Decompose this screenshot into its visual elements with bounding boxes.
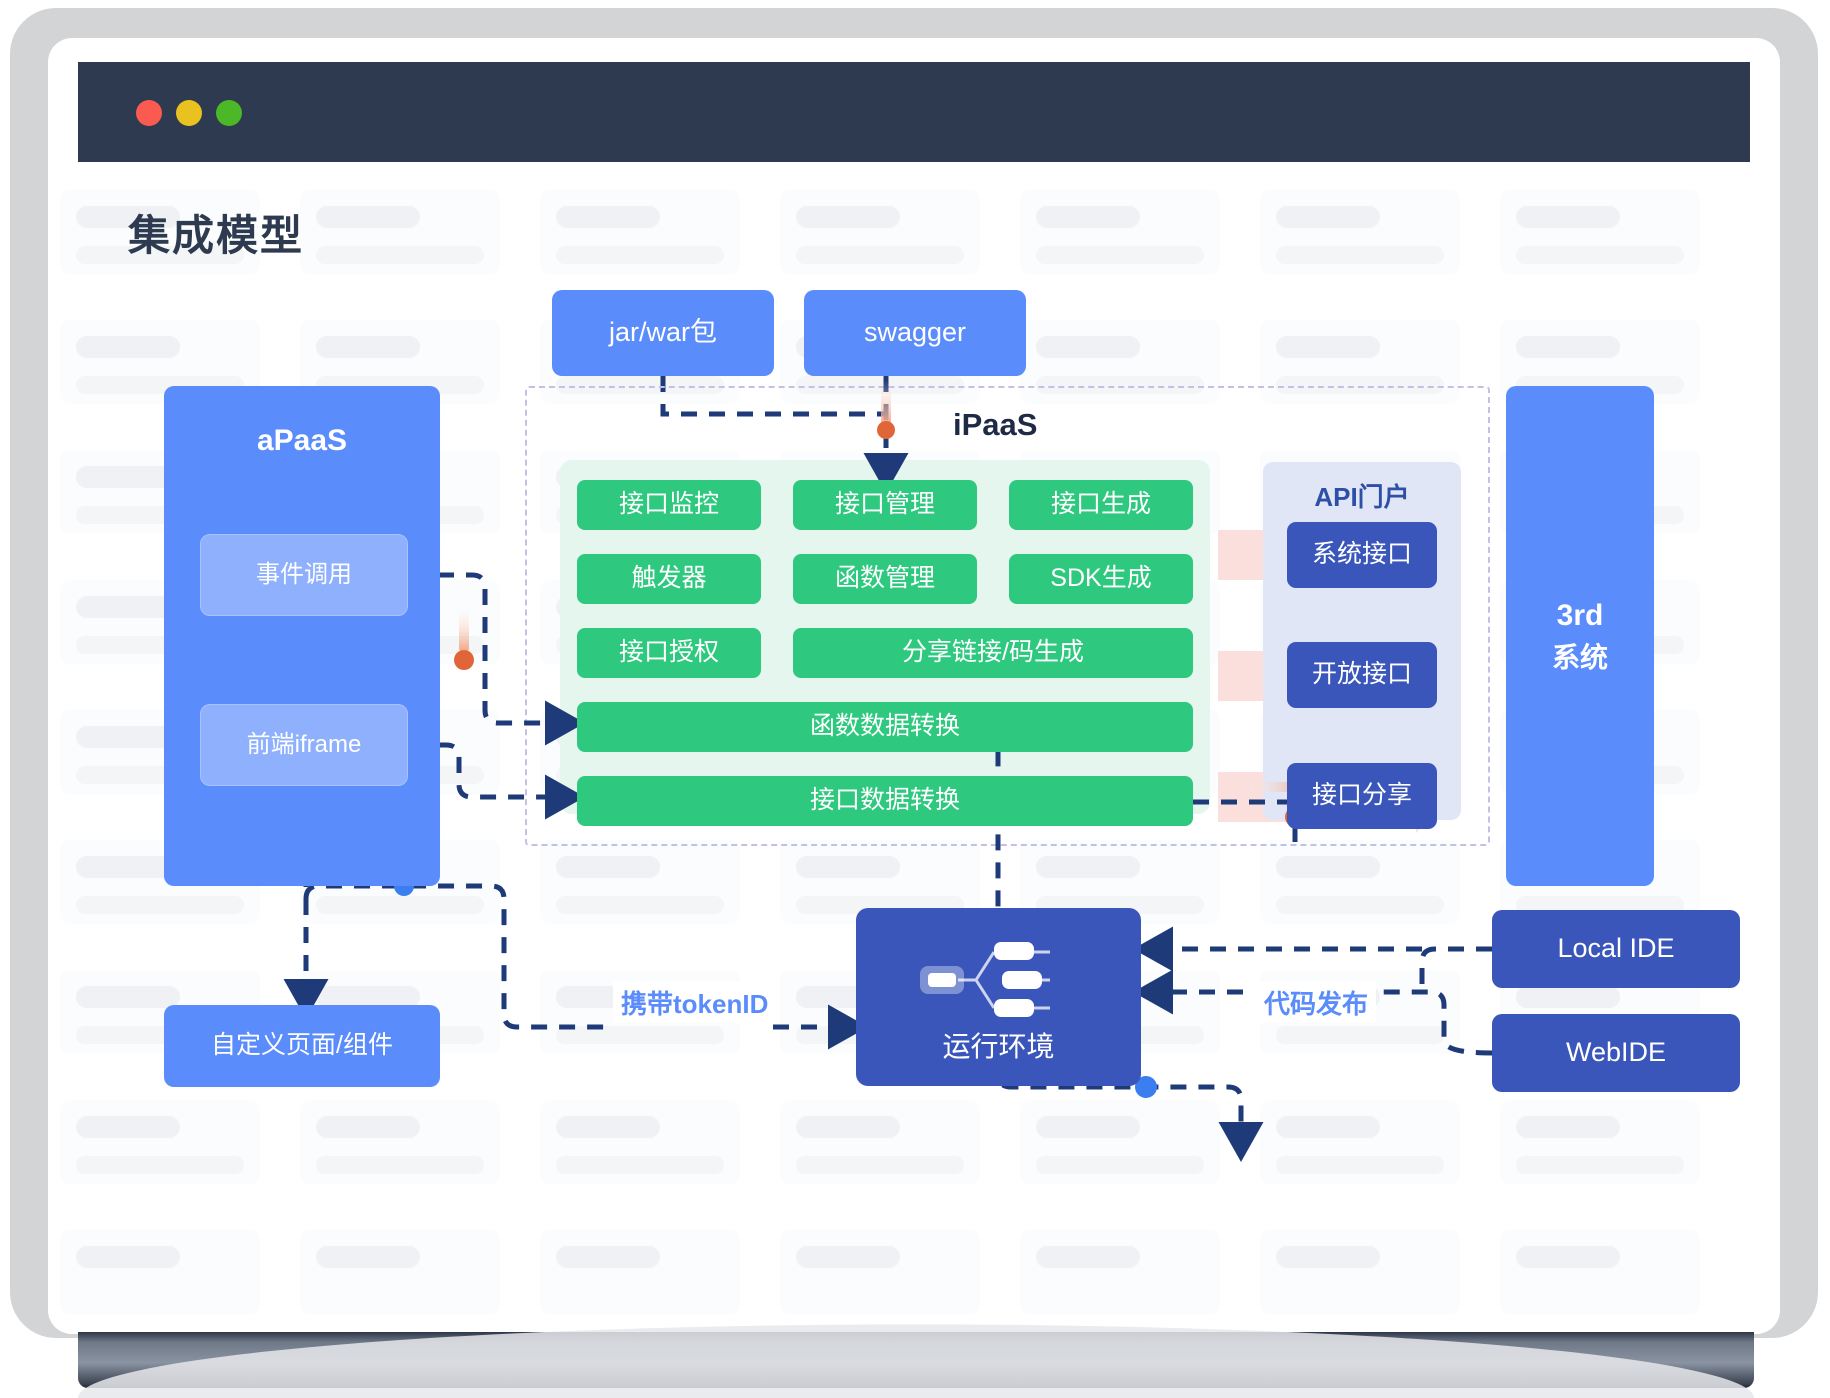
node-apaas-title: aPaaS (257, 422, 347, 460)
node-trigger-label: 触发器 (631, 563, 706, 594)
minimize-window-dot[interactable] (176, 100, 202, 126)
node-api-auth-label: 接口授权 (619, 637, 719, 668)
node-frontend-iframe[interactable]: 前端iframe (200, 704, 408, 786)
node-sdk-generate-label: SDK生成 (1050, 563, 1151, 594)
runtime-tree-icon (898, 934, 1098, 1026)
node-swagger[interactable]: swagger (804, 290, 1026, 376)
node-api-share-label: 接口分享 (1312, 780, 1412, 811)
edge-label-code-publish: 代码发布 (1256, 982, 1376, 1023)
node-event-call-label: 事件调用 (256, 560, 352, 590)
node-frontend-iframe-label: 前端iframe (247, 730, 362, 760)
node-custom-page-label: 自定义页面/组件 (211, 1030, 393, 1061)
node-api-data-transform-label: 接口数据转换 (810, 785, 960, 816)
node-third-party-line1: 3rd (1557, 597, 1604, 635)
node-function-manage-label: 函数管理 (835, 563, 935, 594)
maximize-window-dot[interactable] (216, 100, 242, 126)
node-api-data-transform[interactable]: 接口数据转换 (577, 776, 1193, 826)
node-api-monitor-label: 接口监控 (619, 489, 719, 520)
node-event-call[interactable]: 事件调用 (200, 534, 408, 616)
device-frame: 集成模型 iPaaS API门户 (10, 8, 1818, 1338)
node-third-party-system[interactable]: 3rd 系统 (1506, 386, 1654, 886)
node-apaas[interactable]: aPaaS (164, 386, 440, 886)
node-local-ide-label: Local IDE (1557, 932, 1674, 966)
edge-label-token-id: 携带tokenID (613, 982, 776, 1023)
device-screen: 集成模型 iPaaS API门户 (48, 38, 1780, 1334)
node-jar-war[interactable]: jar/war包 (552, 290, 774, 376)
node-third-party-line2: 系统 (1552, 640, 1608, 675)
node-jar-war-label: jar/war包 (609, 316, 717, 350)
node-function-manage[interactable]: 函数管理 (793, 554, 977, 604)
node-system-api[interactable]: 系统接口 (1287, 522, 1437, 588)
node-api-manage-label: 接口管理 (835, 489, 935, 520)
node-sdk-generate[interactable]: SDK生成 (1009, 554, 1193, 604)
node-api-generate-label: 接口生成 (1051, 489, 1151, 520)
close-window-dot[interactable] (136, 100, 162, 126)
node-local-ide[interactable]: Local IDE (1492, 910, 1740, 988)
api-portal-title: API门户 (1263, 477, 1461, 514)
node-api-generate[interactable]: 接口生成 (1009, 480, 1193, 530)
node-share-link[interactable]: 分享链接/码生成 (793, 628, 1193, 678)
page-title: 集成模型 (128, 202, 304, 263)
node-function-data-transform-label: 函数数据转换 (810, 711, 960, 742)
node-api-share[interactable]: 接口分享 (1287, 763, 1437, 829)
node-open-api-label: 开放接口 (1312, 659, 1412, 690)
node-api-auth[interactable]: 接口授权 (577, 628, 761, 678)
ipaas-title: iPaaS (953, 407, 1037, 443)
node-system-api-label: 系统接口 (1312, 539, 1412, 570)
node-open-api[interactable]: 开放接口 (1287, 642, 1437, 708)
node-swagger-label: swagger (864, 316, 966, 350)
node-function-data-transform[interactable]: 函数数据转换 (577, 702, 1193, 752)
node-api-manage[interactable]: 接口管理 (793, 480, 977, 530)
browser-titlebar (78, 62, 1750, 162)
node-web-ide-label: WebIDE (1566, 1036, 1666, 1070)
node-trigger[interactable]: 触发器 (577, 554, 761, 604)
node-runtime-label: 运行环境 (942, 1029, 1054, 1064)
node-share-link-label: 分享链接/码生成 (902, 637, 1084, 668)
node-custom-page[interactable]: 自定义页面/组件 (164, 1005, 440, 1087)
node-web-ide[interactable]: WebIDE (1492, 1014, 1740, 1092)
node-api-monitor[interactable]: 接口监控 (577, 480, 761, 530)
diagram-canvas: 集成模型 iPaaS API门户 (48, 162, 1780, 1334)
